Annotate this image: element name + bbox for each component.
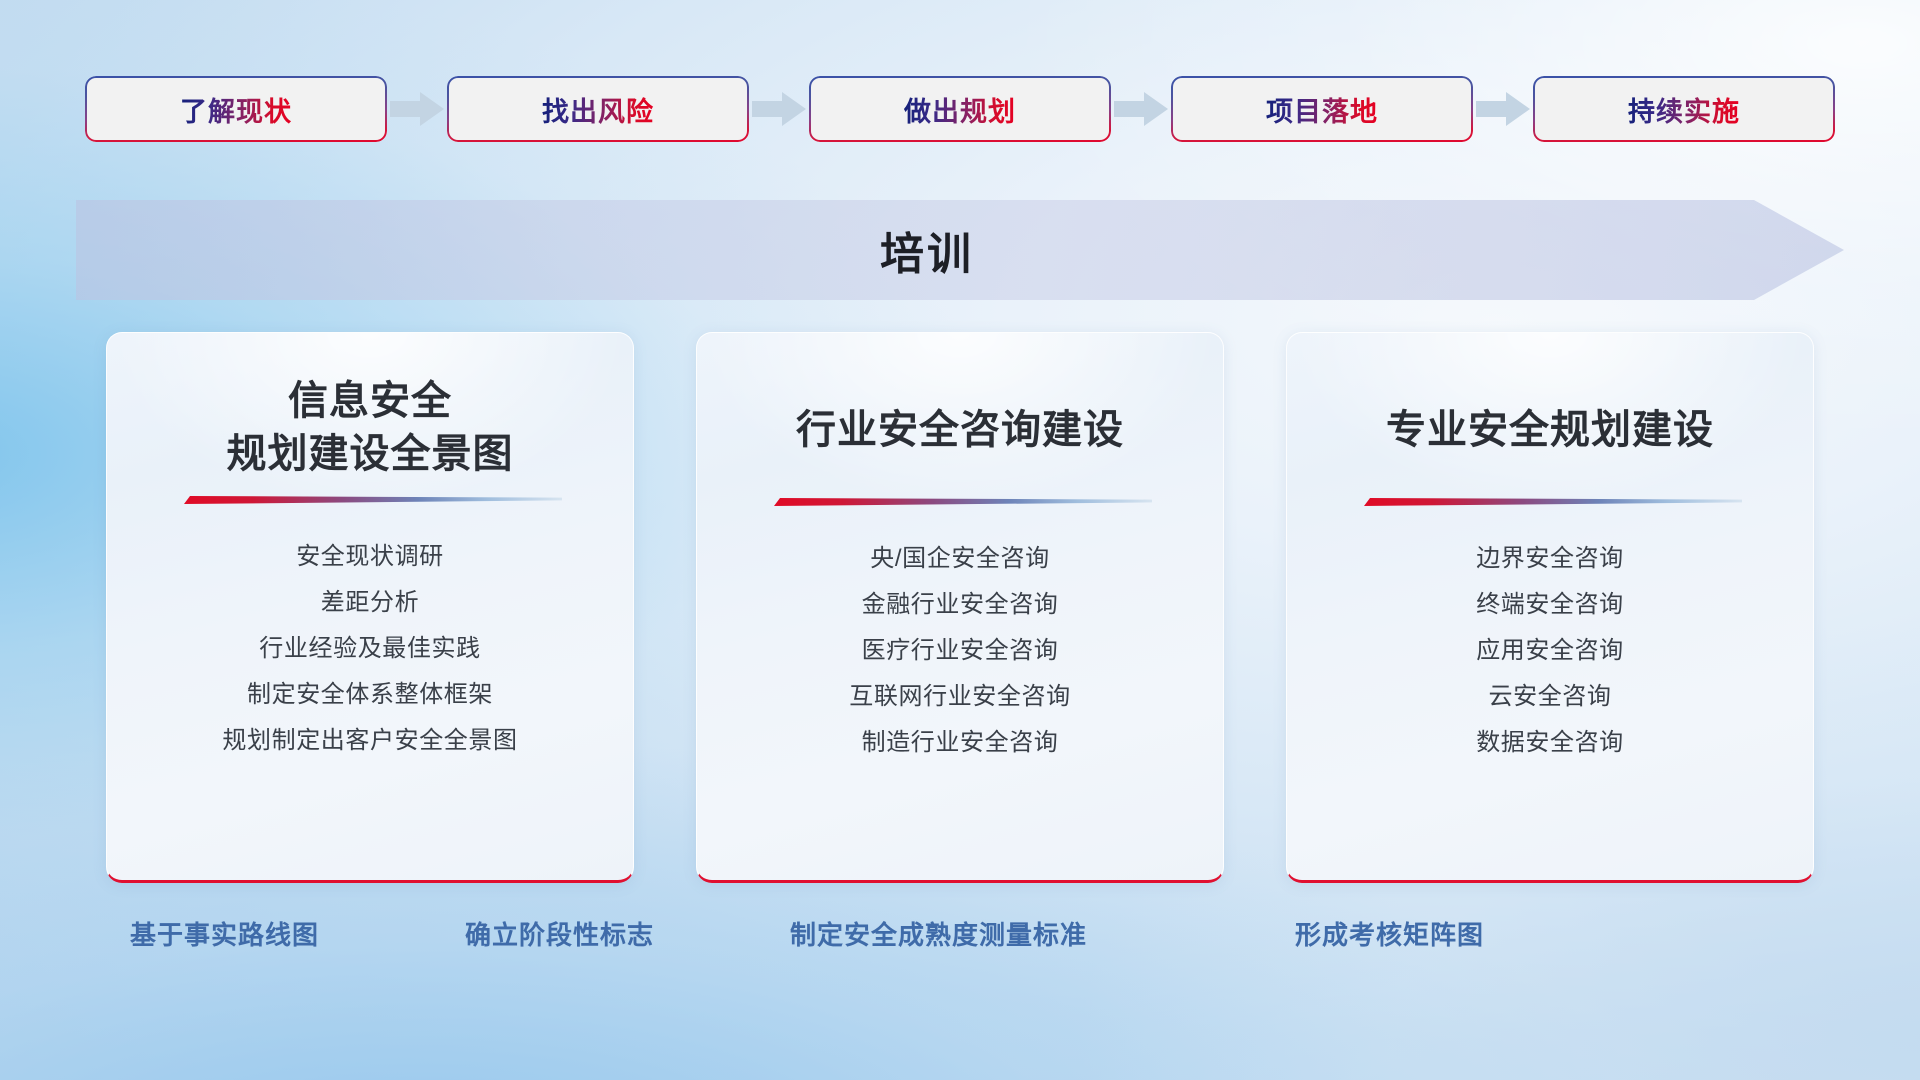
step-label-4: 项目落地 (1266, 90, 1378, 129)
footnote-1: 基于事实路线图 (130, 915, 319, 952)
footnote-row: 基于事实路线图 确立阶段性标志 制定安全成熟度测量标准 形成考核矩阵图 (0, 915, 1920, 963)
card-title-1: 信息安全 规划建设全景图 (227, 375, 514, 481)
step-pill-2[interactable]: 找出风险 (447, 76, 749, 142)
card-title-line2-1: 规划建设全景图 (227, 428, 514, 481)
card-list-3: 边界安全咨询 终端安全咨询 应用安全咨询 云安全咨询 数据安全咨询 (1287, 536, 1813, 766)
step-label-2: 找出风险 (542, 90, 654, 129)
card-divider-3 (1358, 495, 1742, 508)
list-item: 应用安全咨询 (1287, 628, 1813, 674)
footnote-2: 确立阶段性标志 (465, 915, 654, 952)
list-item: 制造行业安全咨询 (697, 720, 1223, 766)
step-arrow-icon-3 (1111, 91, 1171, 127)
step-label-5: 持续实施 (1628, 90, 1740, 129)
step-pill-3[interactable]: 做出规划 (809, 76, 1111, 142)
list-item: 安全现状调研 (107, 534, 633, 580)
card-divider-2 (768, 495, 1152, 508)
capability-card-row: 信息安全 规划建设全景图 安全现状调研 差 (0, 332, 1920, 888)
list-item: 医疗行业安全咨询 (697, 628, 1223, 674)
step-label-1: 了解现状 (180, 90, 292, 129)
step-arrow-icon-4 (1473, 91, 1533, 127)
card-title-2: 行业安全咨询建设 (796, 377, 1124, 483)
capability-card-2[interactable]: 行业安全咨询建设 央/国企安全咨询 金融行业安全咨询 (696, 332, 1224, 883)
step-pill-4[interactable]: 项目落地 (1171, 76, 1473, 142)
list-item: 金融行业安全咨询 (697, 582, 1223, 628)
footnote-4: 形成考核矩阵图 (1295, 915, 1484, 952)
list-item: 差距分析 (107, 580, 633, 626)
card-list-1: 安全现状调研 差距分析 行业经验及最佳实践 制定安全体系整体框架 规划制定出客户… (107, 534, 633, 764)
list-item: 边界安全咨询 (1287, 536, 1813, 582)
card-title-line1-3: 专业安全规划建设 (1386, 404, 1714, 457)
card-title-line1-2: 行业安全咨询建设 (796, 404, 1124, 457)
step-arrow-icon-2 (749, 91, 809, 127)
list-item: 互联网行业安全咨询 (697, 674, 1223, 720)
card-list-2: 央/国企安全咨询 金融行业安全咨询 医疗行业安全咨询 互联网行业安全咨询 制造行… (697, 536, 1223, 766)
card-title-line1-1: 信息安全 (227, 375, 514, 428)
process-step-row: 了解现状 找出风险 做出规划 项目落地 持续实施 (0, 74, 1920, 144)
training-banner-label: 培训 (76, 200, 1844, 300)
step-pill-1[interactable]: 了解现状 (85, 76, 387, 142)
list-item: 制定安全体系整体框架 (107, 672, 633, 718)
footnote-3: 制定安全成熟度测量标准 (790, 915, 1087, 952)
step-label-3: 做出规划 (904, 90, 1016, 129)
list-item: 行业经验及最佳实践 (107, 626, 633, 672)
list-item: 云安全咨询 (1287, 674, 1813, 720)
step-pill-5[interactable]: 持续实施 (1533, 76, 1835, 142)
list-item: 规划制定出客户安全全景图 (107, 718, 633, 764)
card-divider-1 (178, 493, 562, 506)
list-item: 央/国企安全咨询 (697, 536, 1223, 582)
list-item: 终端安全咨询 (1287, 582, 1813, 628)
capability-card-1[interactable]: 信息安全 规划建设全景图 安全现状调研 差 (106, 332, 634, 883)
training-banner: 培训 (76, 200, 1844, 300)
card-title-3: 专业安全规划建设 (1386, 377, 1714, 483)
capability-card-3[interactable]: 专业安全规划建设 边界安全咨询 终端安全咨询 (1286, 332, 1814, 883)
list-item: 数据安全咨询 (1287, 720, 1813, 766)
step-arrow-icon-1 (387, 91, 447, 127)
